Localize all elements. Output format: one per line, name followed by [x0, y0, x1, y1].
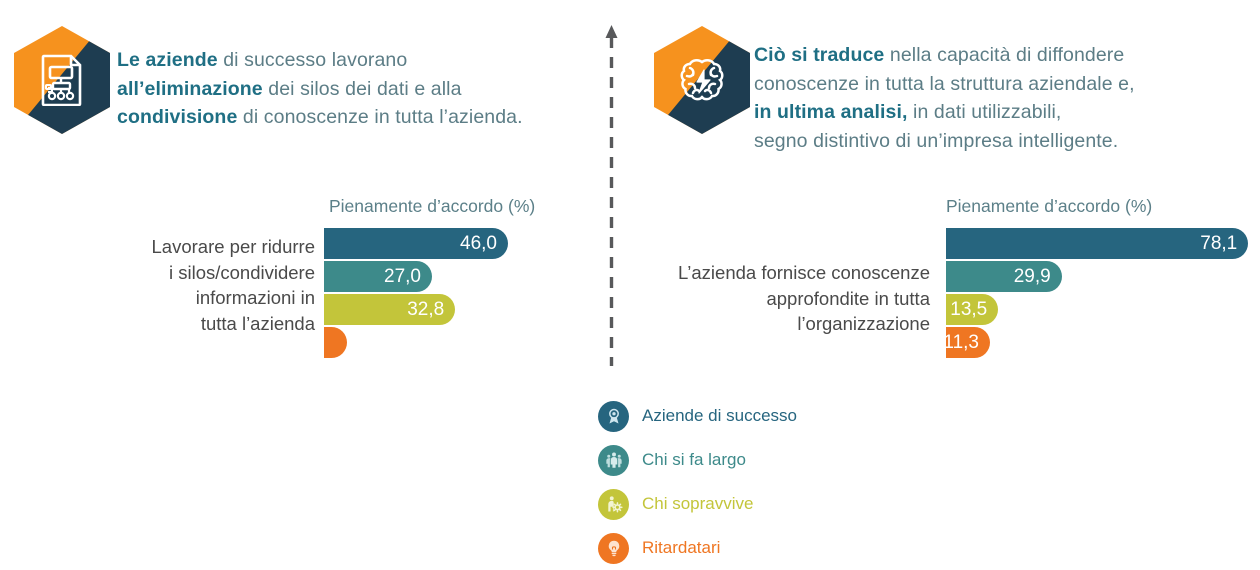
right-headline-segment-1: nella capacità di diffondere: [884, 44, 1124, 66]
legend-item-label: Aziende di successo: [642, 406, 797, 426]
legend-item-label: Chi sopravvive: [642, 494, 754, 514]
left-headline-segment-7: di conoscenze in tutta l’azienda.: [237, 106, 522, 128]
award-rosette-icon: [598, 401, 629, 432]
left-headline-segment-4: dei silos dei dati e alla: [263, 78, 462, 100]
chart-left-category-line-2: informazioni in: [85, 285, 315, 311]
people-group-icon: [598, 445, 629, 476]
bar-row: 29,9: [946, 261, 1260, 292]
dashed-divider-arrow: [604, 24, 620, 366]
right-headline-segment-8: segno distintivo di un’impresa intellige…: [754, 130, 1118, 152]
bar-value-label: 29,9: [1014, 266, 1062, 288]
lightbulb-icon: [598, 533, 629, 564]
bar-3: 13,5: [946, 294, 998, 325]
bar-value-label: 78,1: [1200, 233, 1248, 255]
bar-value-label: 27,0: [384, 266, 432, 288]
right-headline-segment-0: Ciò si traduce: [754, 44, 884, 66]
legend-item-label: Chi si fa largo: [642, 450, 746, 470]
right-headline-segment-6: in dati utilizzabili,: [908, 101, 1062, 123]
bar-row: 78,1: [946, 228, 1260, 259]
bar-value-label: 32,8: [407, 299, 455, 321]
bar-value-label: 11,3: [943, 332, 990, 354]
chart-right-category-line-0: L’azienda fornisce conoscenze: [620, 260, 930, 286]
legend-item-4[interactable]: Ritardatari: [598, 526, 918, 570]
legend-item-1[interactable]: Aziende di successo: [598, 394, 918, 438]
chart-left-category-line-1: i silos/condividere: [85, 260, 315, 286]
right-hex-badge: [654, 26, 750, 134]
chart-right-category-line-1: approfondite in tutta: [620, 286, 930, 312]
left-headline: Le aziende di successo lavoranoall’elimi…: [117, 46, 587, 132]
left-hex-badge: [14, 26, 110, 134]
bar-4: 11,3: [946, 327, 990, 358]
chart-left-header: Pienamente d’accordo (%): [329, 196, 535, 217]
legend-item-3[interactable]: Chi sopravvive: [598, 482, 918, 526]
brain-lightning-icon: [654, 26, 750, 134]
right-headline: Ciò si traduce nella capacità di diffond…: [754, 41, 1254, 155]
left-headline-segment-1: di successo lavorano: [218, 49, 408, 71]
bar-4: [324, 327, 347, 358]
right-headline-segment-5: in ultima analisi,: [754, 101, 908, 123]
document-org-chart-icon: [14, 26, 110, 134]
chart-right-bars: 78,129,913,511,3: [946, 228, 1260, 360]
chart-right-category-line-2: l’organizzazione: [620, 311, 930, 337]
chart-left-bars: 46,027,032,8: [324, 228, 584, 360]
bar-row: 13,5: [946, 294, 1260, 325]
bar-2: 29,9: [946, 261, 1062, 292]
chart-left-category-line-3: tutta l’azienda: [85, 311, 315, 337]
bar-value-label: 13,5: [950, 299, 998, 321]
bar-row: 11,3: [946, 327, 1260, 358]
bar-row: 27,0: [324, 261, 584, 292]
bar-value-label: 46,0: [460, 233, 508, 255]
bar-row: 46,0: [324, 228, 584, 259]
person-gear-icon: [598, 489, 629, 520]
left-headline-segment-6: condivisione: [117, 106, 237, 128]
chart-left-category-line-0: Lavorare per ridurre: [85, 234, 315, 260]
chart-right-category-label: L’azienda fornisce conoscenzeapprofondit…: [620, 260, 930, 337]
left-headline-segment-0: Le aziende: [117, 49, 218, 71]
chart-left-category-label: Lavorare per ridurrei silos/condividerei…: [85, 234, 315, 336]
bar-row: 32,8: [324, 294, 584, 325]
bar-2: 27,0: [324, 261, 432, 292]
legend-item-label: Ritardatari: [642, 538, 720, 558]
legend-item-2[interactable]: Chi si fa largo: [598, 438, 918, 482]
chart-right-header: Pienamente d’accordo (%): [946, 196, 1152, 217]
left-panel: Le aziende di successo lavoranoall’elimi…: [0, 0, 600, 564]
left-headline-segment-3: all’eliminazione: [117, 78, 263, 100]
bar-row: [324, 327, 584, 358]
series-legend: Aziende di successoChi si fa largoChi so…: [598, 394, 918, 570]
right-headline-segment-3: conoscenze in tutta la struttura azienda…: [754, 73, 1135, 95]
bar-1: 46,0: [324, 228, 508, 259]
bar-3: 32,8: [324, 294, 455, 325]
bar-1: 78,1: [946, 228, 1248, 259]
